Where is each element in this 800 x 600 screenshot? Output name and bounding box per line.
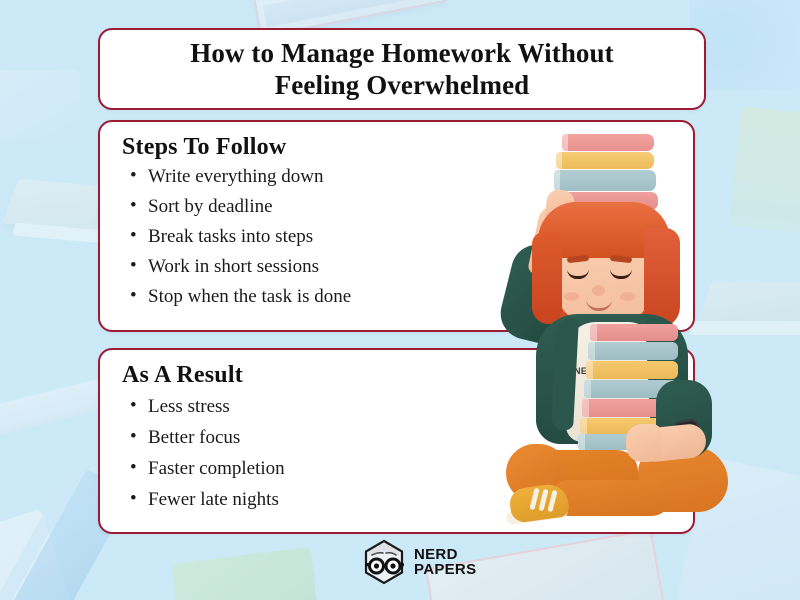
head-book-blue <box>554 170 656 191</box>
nose <box>592 285 605 296</box>
bg-book-shape <box>171 547 318 600</box>
brand-logo: NERD PAPERS <box>360 538 476 586</box>
cheek-right <box>620 292 635 301</box>
bg-book-shape <box>690 0 800 90</box>
page-title-line-2: Feeling Overwhelmed <box>275 70 530 100</box>
student-illustration: NERDPA <box>488 128 738 536</box>
page-title-line-1: How to Manage Homework Without <box>190 38 614 68</box>
cheek-left <box>564 292 579 301</box>
brand-logo-text: NERD PAPERS <box>414 547 476 578</box>
hair-side-left <box>532 232 562 324</box>
nerd-face-hexagon-glasses-icon <box>360 538 408 586</box>
brand-logo-line-1: NERD <box>414 547 476 562</box>
held-book-3 <box>586 361 678 379</box>
hair-side-right <box>644 228 680 328</box>
held-book-2 <box>588 342 678 360</box>
brand-logo-line-2: PAPERS <box>414 562 476 577</box>
page-title: How to Manage Homework Without Feeling O… <box>174 37 630 102</box>
bg-book-shape <box>0 377 111 442</box>
bg-book-shape <box>729 106 800 234</box>
held-book-1 <box>590 324 678 341</box>
hugging-hand <box>626 424 662 462</box>
head-book-pink-top <box>562 134 654 151</box>
head-book-yellow <box>556 152 654 169</box>
title-card: How to Manage Homework Without Feeling O… <box>98 28 706 110</box>
bg-book-shape <box>0 70 80 140</box>
